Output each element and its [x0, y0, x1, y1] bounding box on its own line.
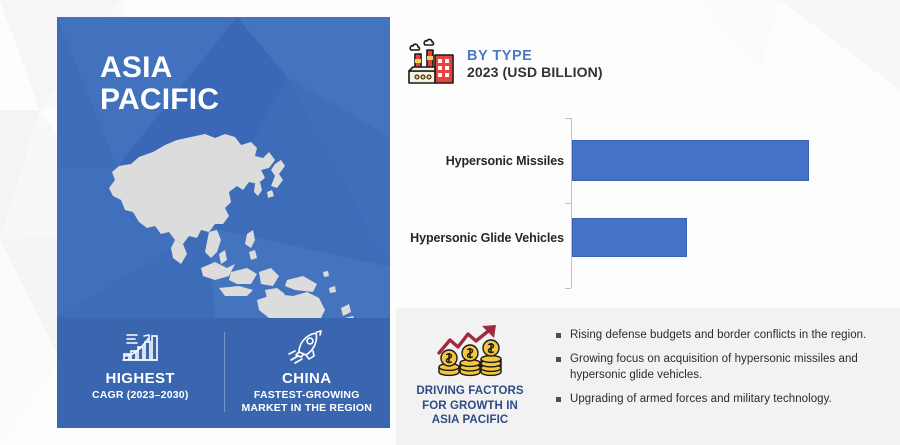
stat-title-cagr: HIGHEST — [57, 370, 224, 387]
list-item-text: Growing focus on acquisition of hyperson… — [570, 352, 888, 383]
bar-label: Hypersonic Glide Vehicles — [404, 231, 572, 245]
axis-tick — [565, 118, 571, 119]
rocket-icon — [224, 325, 391, 367]
list-item: Upgrading of armed forces and military t… — [556, 392, 888, 407]
chart-kicker: BY TYPE — [467, 48, 603, 64]
driving-factors-panel: DRIVING FACTORS FOR GROWTH IN ASIA PACIF… — [396, 308, 900, 445]
page-title: ASIA PACIFIC — [100, 52, 219, 115]
stat-subtitle-cagr: CAGR (2023–2030) — [57, 389, 224, 402]
bullet-icon — [556, 357, 561, 362]
bar-label: Hypersonic Missiles — [404, 154, 572, 168]
chart-units: 2023 (USD BILLION) — [467, 65, 603, 81]
bullet-icon — [556, 397, 561, 402]
bar-wrap — [572, 140, 809, 181]
stat-block-cagr: HIGHEST CAGR (2023–2030) — [57, 318, 224, 402]
coins-growth-icon — [396, 322, 544, 378]
list-item: Growing focus on acquisition of hyperson… — [556, 352, 888, 383]
chart-header-text: BY TYPE 2023 (USD BILLION) — [467, 48, 603, 81]
stat-title-china: CHINA — [224, 370, 391, 387]
factory-icon — [404, 38, 458, 90]
bar-hypersonic-glide-vehicles — [572, 218, 687, 257]
bar-hypersonic-missiles — [572, 140, 809, 181]
bullet-icon — [556, 333, 561, 338]
driving-factors-list: Rising defense budgets and border confli… — [544, 308, 900, 417]
growth-bar-chart-icon — [57, 325, 224, 367]
driving-factors-heading-block: DRIVING FACTORS FOR GROWTH IN ASIA PACIF… — [396, 308, 544, 428]
axis-tick — [565, 288, 571, 289]
stats-divider — [224, 332, 225, 412]
list-item-text: Rising defense budgets and border confli… — [570, 328, 866, 343]
list-item-text: Upgrading of armed forces and military t… — [570, 392, 832, 407]
infographic-root: ASIA PACIFIC — [0, 0, 900, 445]
list-item: Rising defense budgets and border confli… — [556, 328, 888, 343]
stat-block-china: CHINA FASTEST-GROWING MARKET IN THE REGI… — [224, 318, 391, 415]
asia-pacific-map — [79, 112, 375, 324]
region-stats-strip: HIGHEST CAGR (2023–2030) — [57, 318, 390, 428]
region-card: ASIA PACIFIC — [57, 17, 390, 428]
stat-subtitle-china: FASTEST-GROWING MARKET IN THE REGION — [224, 389, 391, 415]
chart-header: BY TYPE 2023 (USD BILLION) — [404, 38, 603, 90]
bar-wrap — [572, 218, 687, 257]
driving-factors-heading: DRIVING FACTORS FOR GROWTH IN ASIA PACIF… — [396, 384, 544, 428]
bar-chart: Hypersonic Missiles Hypersonic Glide Veh… — [404, 112, 874, 294]
axis-tick — [565, 203, 571, 204]
